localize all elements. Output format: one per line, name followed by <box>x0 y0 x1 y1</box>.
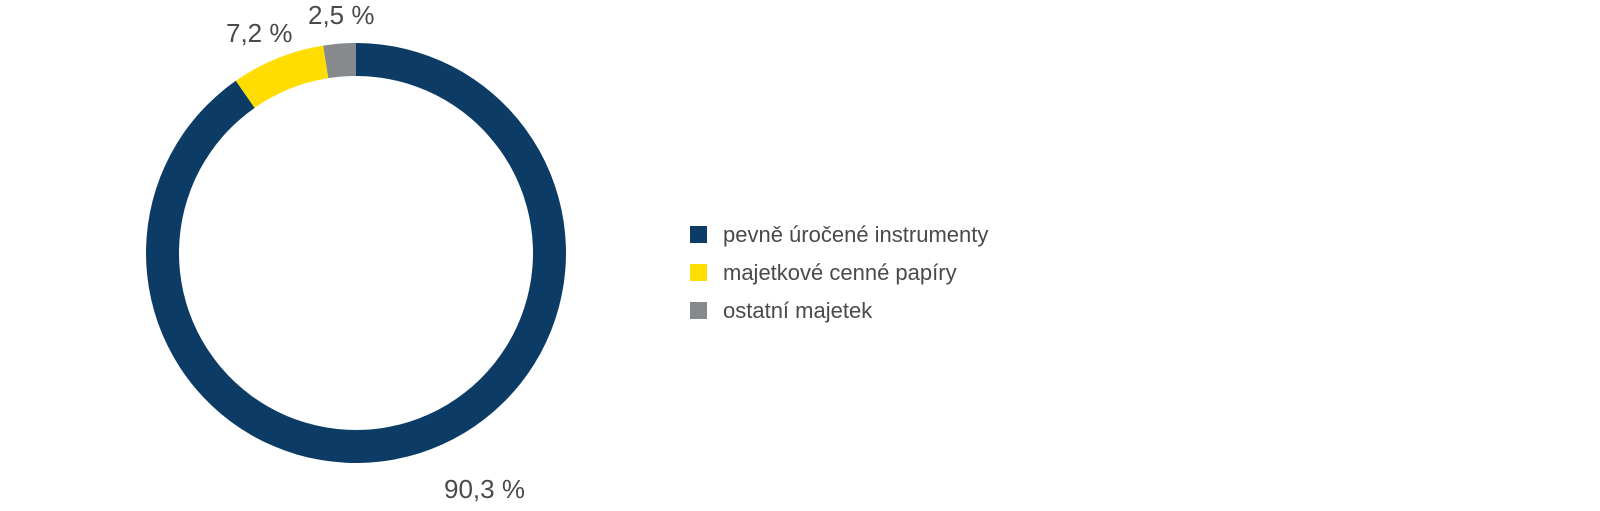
donut-slice-2[interactable] <box>323 43 356 78</box>
data-label-other-assets: 2,5 % <box>308 2 375 28</box>
legend-swatch-icon-fixed-income <box>690 226 707 243</box>
legend-item-equity-securities[interactable]: majetkové cenné papíry <box>690 264 988 281</box>
donut-slice-group <box>146 43 566 463</box>
donut-slice-0[interactable] <box>146 43 566 463</box>
legend-item-fixed-income[interactable]: pevně úročené instrumenty <box>690 226 988 243</box>
legend-label-fixed-income: pevně úročené instrumenty <box>723 224 988 246</box>
donut-slice-1[interactable] <box>236 46 329 108</box>
data-label-equity-securities: 7,2 % <box>226 20 293 46</box>
legend-label-equity-securities: majetkové cenné papíry <box>723 262 957 284</box>
legend-item-other-assets[interactable]: ostatní majetek <box>690 302 988 319</box>
chart-legend: pevně úročené instrumenty majetkové cenn… <box>690 226 988 319</box>
data-label-fixed-income: 90,3 % <box>444 476 525 502</box>
donut-chart-figure: 2,5 % 7,2 % 90,3 % pevně úročené instrum… <box>0 0 1600 511</box>
legend-swatch-icon-other-assets <box>690 302 707 319</box>
legend-swatch-icon-equity-securities <box>690 264 707 281</box>
legend-label-other-assets: ostatní majetek <box>723 300 872 322</box>
